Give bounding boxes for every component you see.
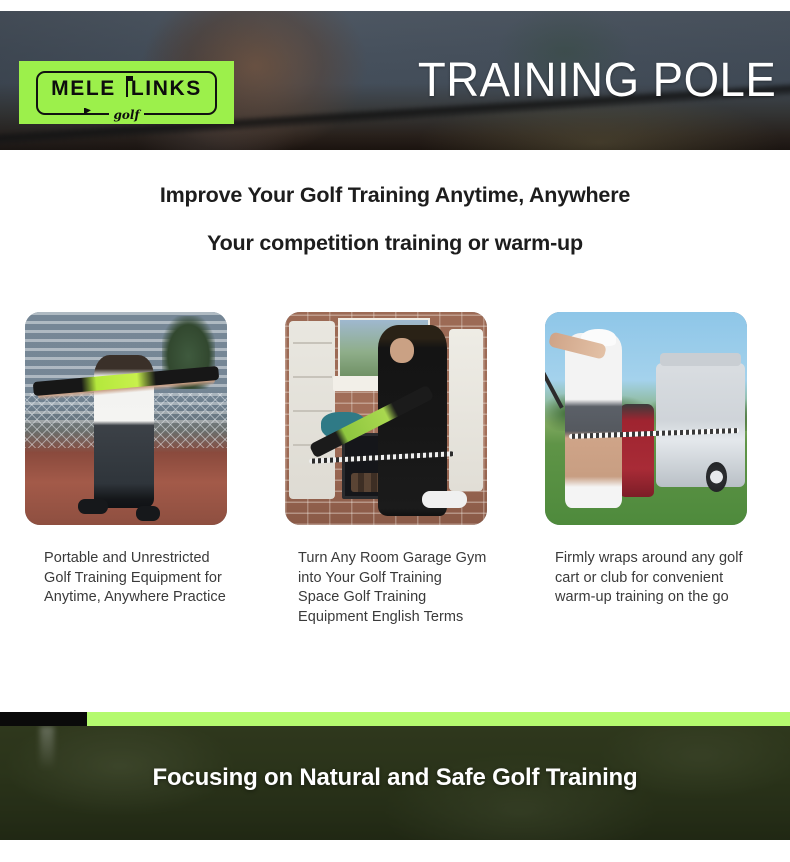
logo-word-left: MELE: [51, 77, 116, 100]
athlete-shoe-left: [78, 499, 108, 514]
feature-caption: Portable and Unrestricted Golf Training …: [25, 549, 227, 608]
golf-cart: [656, 363, 745, 487]
photo-room-scene: [285, 312, 487, 525]
bottom-banner: Focusing on Natural and Safe Golf Traini…: [0, 726, 790, 840]
page-title: TRAINING POLE: [418, 57, 776, 105]
logo-inner: MELELINKS golf: [36, 71, 217, 115]
feature-card: Turn Any Room Garage Gym into Your Golf …: [285, 312, 487, 627]
golf-bag: [620, 404, 654, 498]
golf-cart-wheel: [706, 462, 727, 492]
photo-track-scene: [25, 312, 227, 525]
feature-caption: Firmly wraps around any golf cart or clu…: [545, 549, 747, 608]
feature-image-course: [545, 312, 747, 525]
headline-secondary: Your competition training or warm-up: [0, 231, 790, 256]
golfer-face: [390, 338, 414, 364]
feature-image-track: [25, 312, 227, 525]
feature-card: Firmly wraps around any golf cart or clu…: [545, 312, 747, 627]
logo-tagline-text: golf: [109, 108, 143, 122]
golfer-body: [565, 333, 622, 508]
headline-block: Improve Your Golf Training Anytime, Anyw…: [0, 150, 790, 256]
shelf-right: [449, 329, 483, 491]
photo-course-scene: [545, 312, 747, 525]
brand-logo[interactable]: MELELINKS golf: [19, 61, 234, 124]
golfer-shoe: [422, 491, 466, 508]
header-banner: MELELINKS golf TRAINING POLE: [0, 11, 790, 150]
feature-caption: Turn Any Room Garage Gym into Your Golf …: [285, 549, 487, 627]
headline-primary: Improve Your Golf Training Anytime, Anyw…: [0, 183, 790, 208]
bottom-banner-text: Focusing on Natural and Safe Golf Traini…: [0, 764, 790, 792]
feature-image-room: [285, 312, 487, 525]
logo-tagline: golf: [36, 109, 217, 121]
logo-word-right: LINKS: [131, 77, 202, 100]
athlete-shoe-right: [136, 506, 160, 521]
feature-card: Portable and Unrestricted Golf Training …: [25, 312, 227, 627]
golf-flag-icon: [122, 76, 133, 97]
accent-bar-green-segment: [87, 712, 790, 726]
shelf-left: [289, 321, 335, 500]
accent-bar-black-segment: [0, 712, 87, 726]
feature-card-list: Portable and Unrestricted Golf Training …: [0, 312, 790, 627]
golf-flag-banner: [128, 76, 133, 81]
accent-bar: [0, 712, 790, 726]
